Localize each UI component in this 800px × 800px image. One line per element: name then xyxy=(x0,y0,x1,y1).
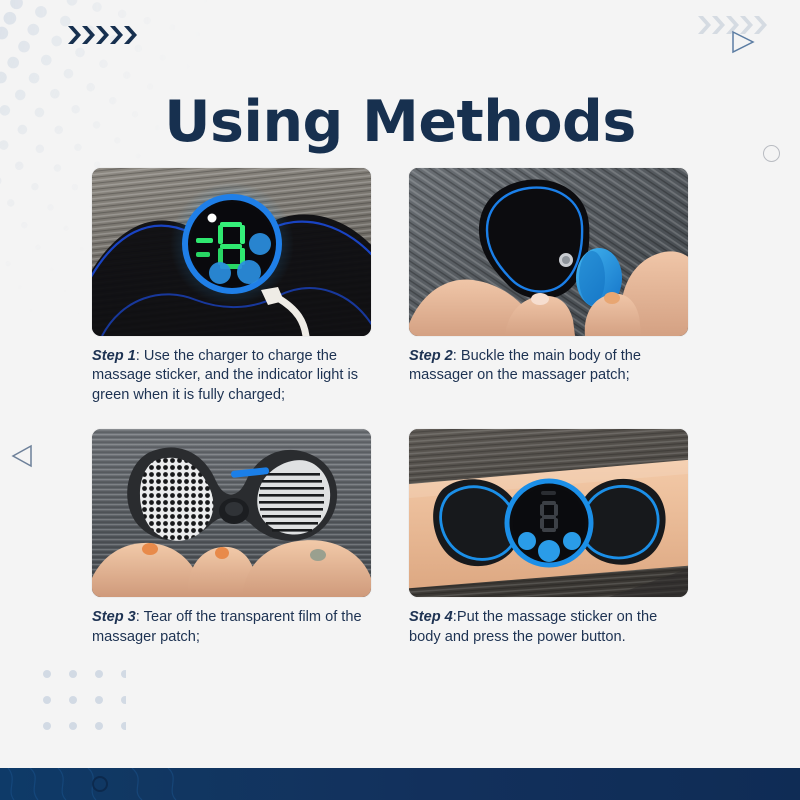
footer-band xyxy=(0,768,800,800)
step-caption-2: Step 2: Buckle the main body of the mass… xyxy=(409,347,688,386)
promo-page: Using Methods xyxy=(0,0,800,800)
chevron-group-right xyxy=(698,14,772,36)
chevron-group-left xyxy=(68,24,142,46)
step-label-4: Step 4 xyxy=(409,609,453,625)
step-sep-3: : xyxy=(136,609,144,625)
step-sep-2: : xyxy=(453,348,461,364)
page-title: Using Methods xyxy=(0,94,800,151)
triangle-left-icon xyxy=(10,444,34,473)
step-label-3: Step 3 xyxy=(92,609,136,625)
step-image-3 xyxy=(92,429,371,597)
step-image-4 xyxy=(409,429,688,597)
step-caption-1: Step 1: Use the charger to charge the ma… xyxy=(92,347,371,405)
step-card-4: Step 4:Put the massage sticker on the bo… xyxy=(409,429,688,647)
triangle-right-icon xyxy=(730,30,756,59)
step-image-1 xyxy=(92,168,371,336)
step-caption-4: Step 4:Put the massage sticker on the bo… xyxy=(409,608,688,647)
step-label-1: Step 1 xyxy=(92,348,136,364)
step-label-2: Step 2 xyxy=(409,348,453,364)
step-card-2: Step 2: Buckle the main body of the mass… xyxy=(409,168,688,405)
step-card-3: Step 3: Tear off the transparent film of… xyxy=(92,429,371,647)
step-image-2 xyxy=(409,168,688,336)
steps-grid: Step 1: Use the charger to charge the ma… xyxy=(92,168,688,647)
dot-grid-decoration xyxy=(42,669,126,738)
step-card-1: Step 1: Use the charger to charge the ma… xyxy=(92,168,371,405)
step-caption-3: Step 3: Tear off the transparent film of… xyxy=(92,608,371,647)
step-sep-1: : xyxy=(136,348,144,364)
